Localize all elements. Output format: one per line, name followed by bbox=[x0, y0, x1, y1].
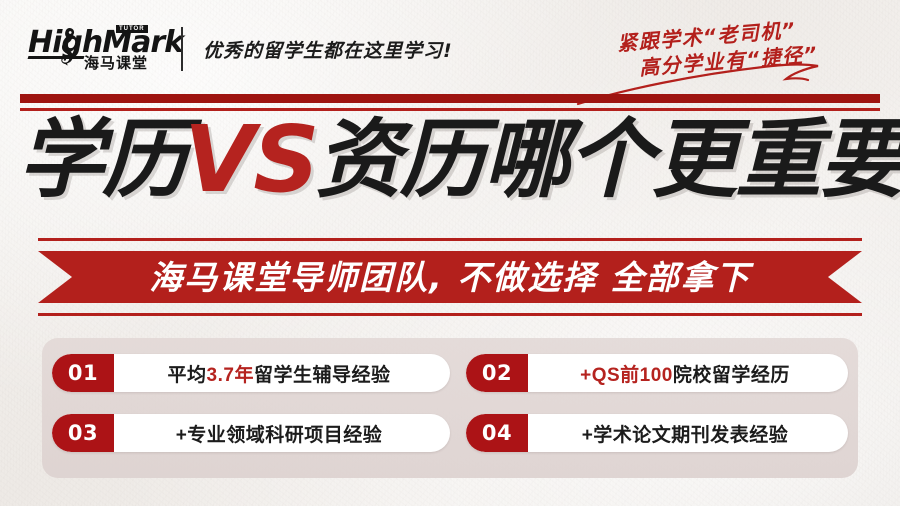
feature-text-02: +QS前100院校留学经历 bbox=[528, 360, 848, 387]
logo-chinese-name: 海马课堂 bbox=[84, 56, 148, 71]
logo-tutor-tag: TUTOR bbox=[116, 25, 148, 33]
feature-item-04[interactable]: 04 +学术论文期刊发表经验 bbox=[466, 414, 848, 452]
ribbon-banner: 海马课堂导师团队, 不做选择 全部拿下 bbox=[0, 238, 900, 316]
page-title: 学历 VS 资历哪个更重要 bbox=[18, 108, 886, 212]
feature-text-01: 平均3.7年留学生辅导经验 bbox=[114, 360, 450, 387]
feature-pre-04: +学术论文期刊发表经验 bbox=[582, 425, 789, 446]
feature-text-04: +学术论文期刊发表经验 bbox=[528, 420, 848, 447]
feature-pre-03: +专业领域科研项目经验 bbox=[176, 425, 383, 446]
brand-tagline: 优秀的留学生都在这里学习! bbox=[203, 36, 453, 63]
brand-logo: HighMark TUTOR 海马课堂 bbox=[28, 26, 168, 74]
ribbon-shape bbox=[38, 251, 862, 303]
feature-text-03: +专业领域科研项目经验 bbox=[114, 420, 450, 447]
feature-highlight-01: 3.7年 bbox=[207, 365, 254, 386]
rule-thick-top bbox=[20, 94, 880, 103]
feature-item-02[interactable]: 02 +QS前100院校留学经历 bbox=[466, 354, 848, 392]
feature-badge-01: 01 bbox=[52, 354, 114, 392]
feature-badge-03: 03 bbox=[52, 414, 114, 452]
feature-post-01: 留学生辅导经验 bbox=[254, 365, 391, 386]
header: HighMark TUTOR 海马课堂 优秀的留学生都在这里学习! 紧跟学术“老… bbox=[0, 0, 900, 90]
header-divider bbox=[181, 27, 183, 71]
logo-wordmark: HighMark bbox=[28, 28, 183, 58]
feature-badge-02: 02 bbox=[466, 354, 528, 392]
headline-vs: VS bbox=[184, 114, 317, 206]
headline-part-1: 学历 bbox=[18, 117, 186, 203]
headline-part-2: 资历哪个更重要 bbox=[315, 117, 900, 203]
feature-item-01[interactable]: 01 平均3.7年留学生辅导经验 bbox=[52, 354, 450, 392]
feature-post-02: 院校留学经历 bbox=[673, 365, 790, 386]
logo-underline bbox=[28, 56, 85, 59]
feature-highlight-02: +QS前100 bbox=[580, 365, 673, 386]
ribbon-rule-bottom bbox=[38, 313, 862, 316]
feature-badge-04: 04 bbox=[466, 414, 528, 452]
feature-pre-01: 平均 bbox=[168, 365, 207, 386]
feature-item-03[interactable]: 03 +专业领域科研项目经验 bbox=[52, 414, 450, 452]
ribbon-rule-top bbox=[38, 238, 862, 241]
seahorse-icon bbox=[59, 26, 77, 70]
promo-banner: HighMark TUTOR 海马课堂 优秀的留学生都在这里学习! 紧跟学术“老… bbox=[0, 0, 900, 506]
